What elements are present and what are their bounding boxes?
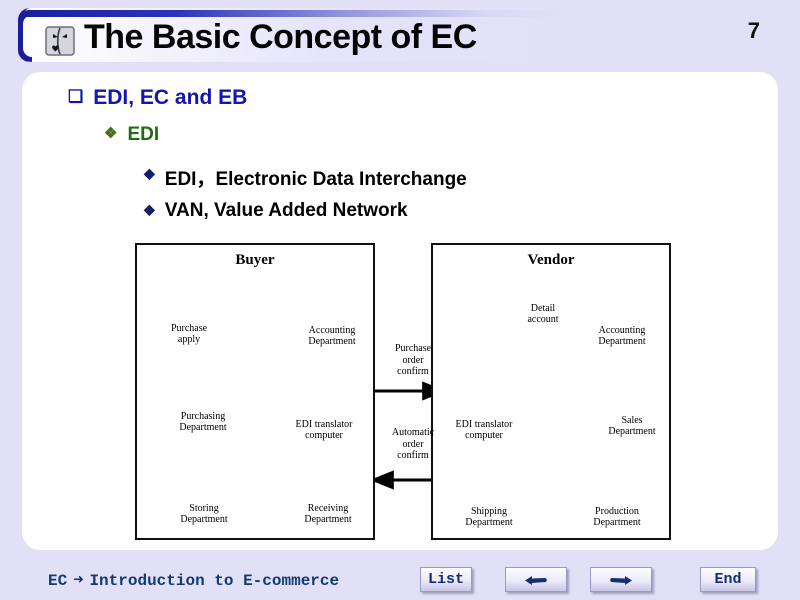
bullet-level3-label: VAN, Value Added Network [165, 200, 408, 222]
vendor-panel-title: Vendor [431, 252, 671, 269]
hand-right-icon [608, 573, 634, 586]
bullet-square-icon: ❏ [68, 88, 83, 105]
node-label-accounting-department-vendor: Accounting Department [579, 325, 665, 347]
footer-breadcrumb: EC➜Introduction to E-commerce [48, 570, 339, 591]
node-label-accounting-department-buyer: Accounting Department [289, 325, 375, 347]
bullet-diamond-icon: ◆ [144, 202, 155, 216]
title-left-accent [18, 10, 32, 62]
hand-left-icon [523, 573, 549, 586]
node-label-receiving-department: Receiving Department [285, 503, 371, 525]
page-title: The Basic Concept of EC [84, 14, 477, 60]
node-label-shipping-department: Shipping Department [445, 506, 533, 528]
node-label-edi-translator-computer-buyer: EDI translator computer [275, 419, 373, 441]
arrow-right-icon: ➜ [67, 572, 89, 591]
bullet-level3-van-full: ◆ VAN, Value Added Network [144, 200, 408, 222]
footer-course: EC [48, 572, 67, 590]
finder-face-icon [44, 25, 76, 57]
bullet-level3-edi-full: ◆ EDI，Electronic Data Interchange [144, 164, 467, 191]
vendor-panel [431, 243, 671, 540]
bullet-level1-edi-ec-eb: ❏ EDI, EC and EB [68, 86, 247, 110]
end-button[interactable]: End [700, 567, 756, 592]
buyer-panel-title: Buyer [135, 252, 375, 269]
bullet-level3-label: EDI，Electronic Data Interchange [165, 164, 467, 191]
node-label-storing-department: Storing Department [161, 503, 247, 525]
node-label-edi-translator-computer-vendor: EDI translator computer [435, 419, 533, 441]
slide-title-bar: The Basic Concept of EC [18, 8, 568, 62]
page-number: 7 [748, 18, 760, 44]
bullet-diamond-cluster-icon: ❖ [104, 126, 117, 141]
edge-label-detail-account: Detail account [509, 303, 577, 325]
footer-subject: Introduction to E-commerce [89, 572, 339, 590]
next-button[interactable] [590, 567, 652, 592]
node-label-purchase-apply: Purchase apply [147, 323, 231, 345]
buyer-panel [135, 243, 375, 540]
bullet-diamond-icon: ◆ [144, 166, 155, 180]
edi-flow-diagram: $ [135, 243, 671, 540]
list-button[interactable]: List [420, 567, 472, 592]
node-label-production-department: Production Department [571, 506, 663, 528]
bullet-level2-edi: ❖ EDI [104, 124, 159, 146]
bullet-level1-label: EDI, EC and EB [93, 86, 247, 110]
node-label-purchasing-department: Purchasing Department [159, 411, 247, 433]
edge-label-automatic-order-confirm: Automatic order confirm [381, 427, 445, 462]
bullet-level2-label: EDI [127, 124, 159, 146]
slide-content-panel: ❏ EDI, EC and EB ❖ EDI ◆ EDI，Electronic … [22, 72, 778, 550]
previous-button[interactable] [505, 567, 567, 592]
node-label-sales-department: Sales Department [589, 415, 675, 437]
edge-label-purchase-order-confirm: Purchase order confirm [381, 343, 445, 378]
